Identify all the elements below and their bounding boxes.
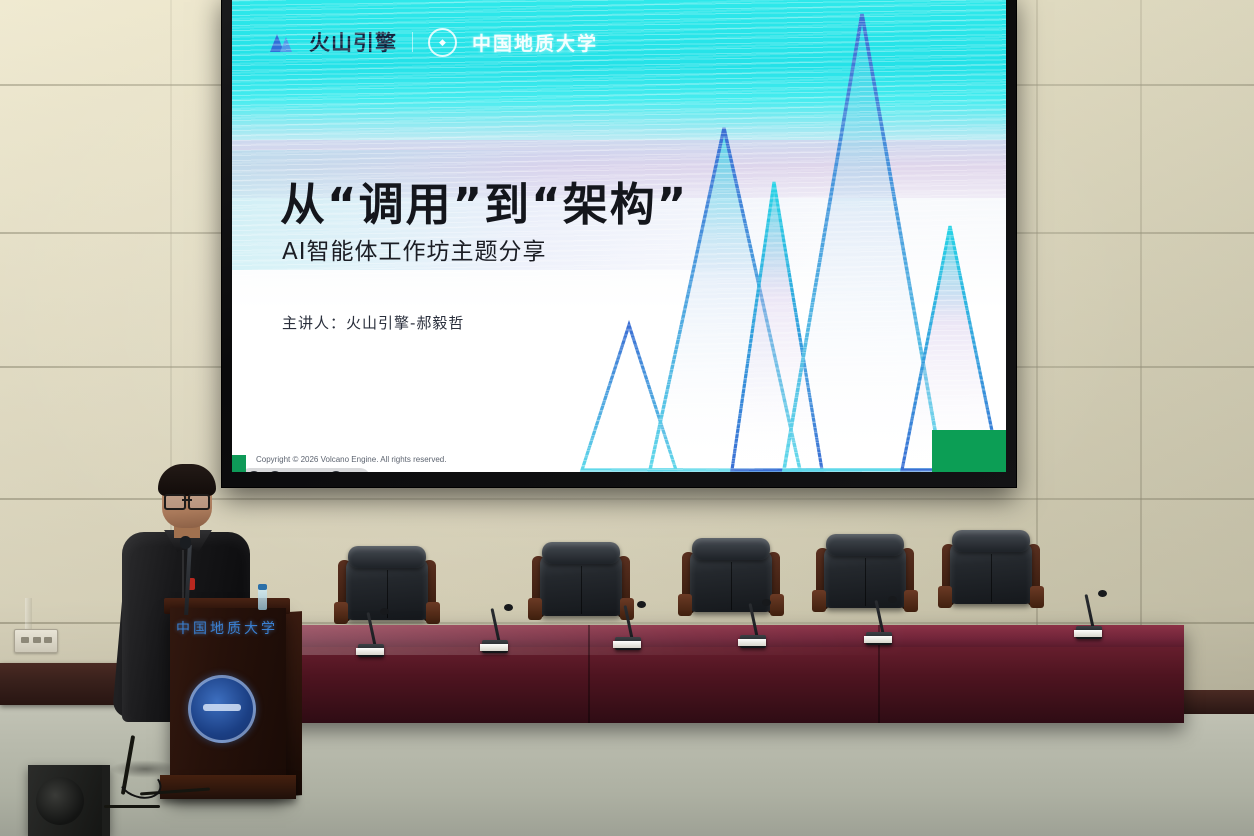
presenter-view-icon[interactable]: ▭ [309, 471, 322, 472]
water-bottle [258, 588, 267, 610]
university-logo-icon: ◆ [428, 28, 457, 57]
podium-microphone-head [180, 536, 191, 549]
chair [528, 536, 634, 628]
name-card [864, 636, 892, 643]
name-card [613, 641, 641, 648]
audio-speaker-cabinet [28, 765, 110, 836]
logo-divider [412, 32, 413, 52]
volcano-engine-logo-text: 火山引擎 [309, 27, 397, 57]
speaker-side [102, 765, 110, 836]
name-card [1074, 630, 1102, 637]
collapse-toolbar-icon[interactable]: ‹ [350, 471, 363, 472]
table-seam [588, 625, 590, 723]
screen-surface: 火山引擎 ◆ 中国地质大学 从“调用”到“架构” AI智能体工作坊主题分享 主讲… [232, 0, 1006, 472]
university-logo-text: 中国地质大学 [472, 29, 598, 56]
chair [334, 540, 440, 632]
wall-conduit [25, 598, 32, 632]
presenter-toolbar[interactable]: ◀ ▶ ✎ ▭ ••• ‹ [240, 468, 370, 472]
mountain-graphic [572, 0, 1006, 472]
table-highlight [278, 625, 1184, 655]
name-card [356, 648, 384, 655]
slide-copyright: Copyright © 2026 Volcano Engine. All rig… [256, 455, 446, 464]
volcano-engine-logo-icon [268, 31, 294, 53]
slide-subtitle: AI智能体工作坊主题分享 [282, 232, 547, 266]
glasses-icon [164, 494, 210, 506]
speaker-hair [158, 464, 216, 496]
speaker-cone [36, 777, 84, 825]
name-card [738, 639, 766, 646]
more-options-icon[interactable]: ••• [329, 471, 343, 472]
presentation-slide: 火山引擎 ◆ 中国地质大学 从“调用”到“架构” AI智能体工作坊主题分享 主讲… [232, 0, 1006, 472]
name-card [480, 644, 508, 651]
podium-base [160, 775, 296, 799]
next-slide-icon[interactable]: ▶ [268, 471, 282, 472]
slide-presenter-line: 主讲人：火山引擎-郝毅哲 [282, 312, 464, 333]
chair [938, 524, 1044, 618]
water-bottle-cap [258, 584, 267, 590]
slide-title: 从“调用”到“架构” [280, 168, 688, 233]
pen-annotate-icon[interactable]: ✎ [289, 471, 302, 472]
screenshot-root: 火山引擎 ◆ 中国地质大学 从“调用”到“架构” AI智能体工作坊主题分享 主讲… [0, 0, 1254, 836]
conference-table [278, 625, 1184, 723]
screen-edge-artifact [932, 430, 1006, 472]
wall-control-panel[interactable] [14, 629, 58, 653]
university-seal-icon [188, 675, 256, 743]
podium-label: 中国地质大学 [176, 618, 278, 638]
slide-logo-row: 火山引擎 ◆ 中国地质大学 [268, 27, 598, 57]
chair [678, 532, 784, 624]
floor-cable [104, 805, 160, 808]
chair [812, 528, 918, 620]
display-screen: 火山引擎 ◆ 中国地质大学 从“调用”到“架构” AI智能体工作坊主题分享 主讲… [222, 0, 1016, 487]
